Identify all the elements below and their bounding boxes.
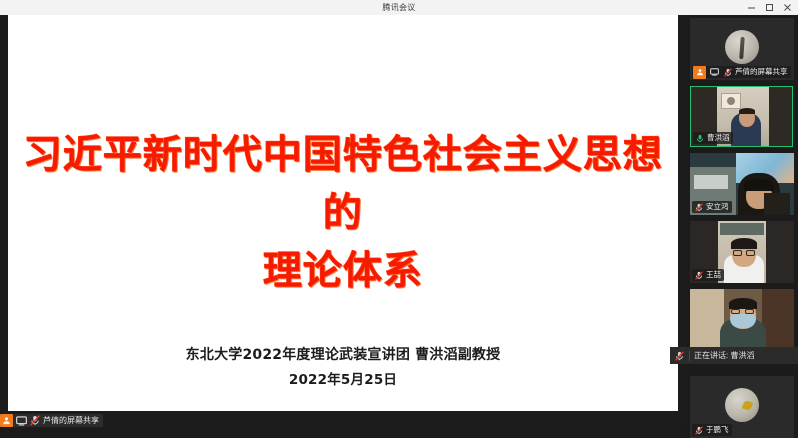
screen-share-status-pill: 芦倩的屏幕共享 [0,414,103,427]
mic-muted-icon [693,269,704,281]
tencent-meeting-window: 腾讯会议 习近平新时代中国特色社会主义思想的 理论体系 东北大学2022年度理论… [0,0,798,429]
participant-tile[interactable]: 芦倩的屏幕共享 [690,18,794,80]
avatar [725,30,759,64]
mic-muted-icon [722,66,733,78]
mic-active-icon [694,132,705,144]
participant-name-pill: 安立鸿 [692,201,732,213]
shared-screen-stage[interactable]: 习近平新时代中国特色社会主义思想的 理论体系 东北大学2022年度理论武装宣讲团… [0,15,686,429]
slide-title-line-2: 理论体系 [8,243,678,301]
participant-name: 曹洪滔 [707,134,730,142]
participant-tile[interactable] [690,289,794,351]
slide-title-line-1: 习近平新时代中国特色社会主义思想的 [8,127,678,243]
slide-subtitle: 东北大学2022年度理论武装宣讲团 曹洪滔副教授 2022年5月25日 [8,343,678,393]
close-button[interactable] [778,0,796,15]
window-controls [742,0,796,15]
slide-subtitle-line-2: 2022年5月25日 [8,368,678,393]
minimize-button[interactable] [742,0,760,15]
window-title: 腾讯会议 [382,4,415,12]
participant-tile[interactable]: 曹洪滔 [690,86,793,147]
window-title-bar: 腾讯会议 [0,0,798,16]
slide-subtitle-line-1: 东北大学2022年度理论武装宣讲团 曹洪滔副教授 [8,343,678,368]
participant-name-pill: 王喆 [692,269,724,281]
speaking-status-bar: 正在讲话: 曹洪滔 [670,347,798,364]
participant-name: 于鹏飞 [706,426,729,434]
avatar [725,388,759,422]
participant-tile[interactable]: 安立鸿 [690,153,794,215]
mic-muted-icon [29,415,40,427]
host-badge-icon [0,414,13,427]
participant-name-pill: 芦倩的屏幕共享 [692,66,791,78]
participant-name-pill: 曹洪滔 [693,132,733,144]
screen-share-status-bar: 芦倩的屏幕共享 [0,412,686,429]
mic-muted-icon [693,424,704,436]
speaking-status-label: 正在讲话: 曹洪滔 [694,352,754,360]
participant-sidebar[interactable]: 芦倩的屏幕共享 [686,15,798,429]
divider [689,351,690,361]
screen-share-icon [708,66,720,78]
slide-title: 习近平新时代中国特色社会主义思想的 理论体系 [8,127,678,301]
participant-name-pill: 于鹏飞 [692,424,732,436]
participant-name: 王喆 [706,271,721,279]
mic-muted-icon [693,201,704,213]
participant-name: 芦倩的屏幕共享 [735,68,788,76]
maximize-button[interactable] [760,0,778,15]
participant-tile[interactable]: 王喆 [690,221,794,283]
participant-video [690,289,794,351]
mic-muted-icon [674,350,685,362]
screen-share-icon [15,415,27,427]
participant-name: 安立鸿 [706,203,729,211]
host-badge-icon [693,66,706,79]
presentation-slide: 习近平新时代中国特色社会主义思想的 理论体系 东北大学2022年度理论武装宣讲团… [8,15,678,411]
screen-share-owner-label: 芦倩的屏幕共享 [42,417,99,425]
